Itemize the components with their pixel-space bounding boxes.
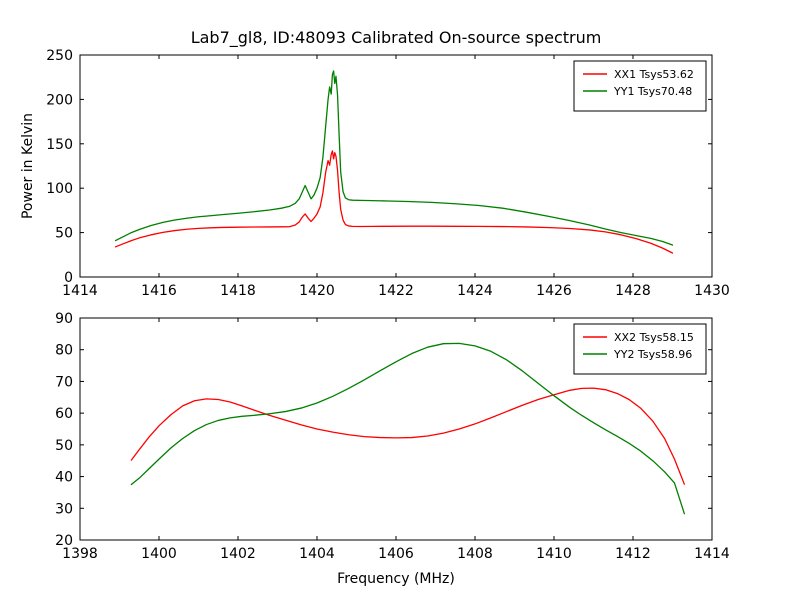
y-tick-label-3: 150	[46, 137, 73, 153]
x-tick-label-4: 1422	[378, 283, 414, 299]
y-tick-label-6: 80	[55, 343, 73, 359]
y-tick-label-0: 20	[55, 533, 73, 549]
x-tick-label-5: 1424	[457, 283, 493, 299]
x-tick-label-6: 1410	[536, 546, 572, 562]
y-tick-label-4: 200	[46, 92, 73, 108]
x-tick-label-1: 1416	[141, 283, 177, 299]
y-axis-label: Power in Kelvin	[20, 113, 36, 219]
x-tick-label-1: 1400	[141, 546, 177, 562]
x-tick-label-3: 1404	[299, 546, 335, 562]
x-tick-label-6: 1426	[536, 283, 572, 299]
legend-label-0: XX2 Tsys58.15	[614, 331, 694, 344]
x-tick-label-8: 1430	[694, 283, 730, 299]
y-tick-label-2: 40	[55, 470, 73, 486]
figure-canvas: 1414141614181420142214241426142814300501…	[0, 0, 800, 600]
y-tick-label-1: 30	[55, 501, 73, 517]
y-tick-label-1: 50	[55, 226, 73, 242]
y-tick-label-5: 250	[46, 48, 73, 64]
x-tick-label-4: 1406	[378, 546, 414, 562]
x-tick-label-5: 1408	[457, 546, 493, 562]
x-tick-label-7: 1428	[615, 283, 651, 299]
plot-title: Lab7_gl8, ID:48093 Calibrated On-source …	[191, 28, 602, 48]
y-tick-label-7: 90	[55, 311, 73, 327]
axes-bottom-bandpass: 1398140014021404140614081410141214142030…	[55, 311, 730, 587]
legend-label-1: YY1 Tsys70.48	[613, 85, 692, 98]
x-tick-label-3: 1420	[299, 283, 335, 299]
spectrum-figure: 1414141614181420142214241426142814300501…	[0, 0, 800, 600]
x-tick-label-2: 1418	[220, 283, 256, 299]
series-line-xx1	[116, 151, 673, 253]
legend-label-1: YY2 Tsys58.96	[613, 348, 692, 361]
series-line-xx2	[131, 388, 684, 484]
legend-top-spectrum: XX1 Tsys53.62YY1 Tsys70.48	[574, 61, 706, 111]
axes-top-spectrum: 1414141614181420142214241426142814300501…	[20, 28, 730, 299]
y-tick-label-0: 0	[64, 270, 73, 286]
legend-label-0: XX1 Tsys53.62	[614, 68, 694, 81]
y-tick-label-2: 100	[46, 181, 73, 197]
y-tick-label-5: 70	[55, 374, 73, 390]
x-tick-label-7: 1412	[615, 546, 651, 562]
y-tick-label-4: 60	[55, 406, 73, 422]
x-axis-label: Frequency (MHz)	[337, 571, 455, 587]
y-tick-label-3: 50	[55, 438, 73, 454]
legend-bottom-bandpass: XX2 Tsys58.15YY2 Tsys58.96	[574, 324, 706, 374]
x-tick-label-2: 1402	[220, 546, 256, 562]
x-tick-label-8: 1414	[694, 546, 730, 562]
